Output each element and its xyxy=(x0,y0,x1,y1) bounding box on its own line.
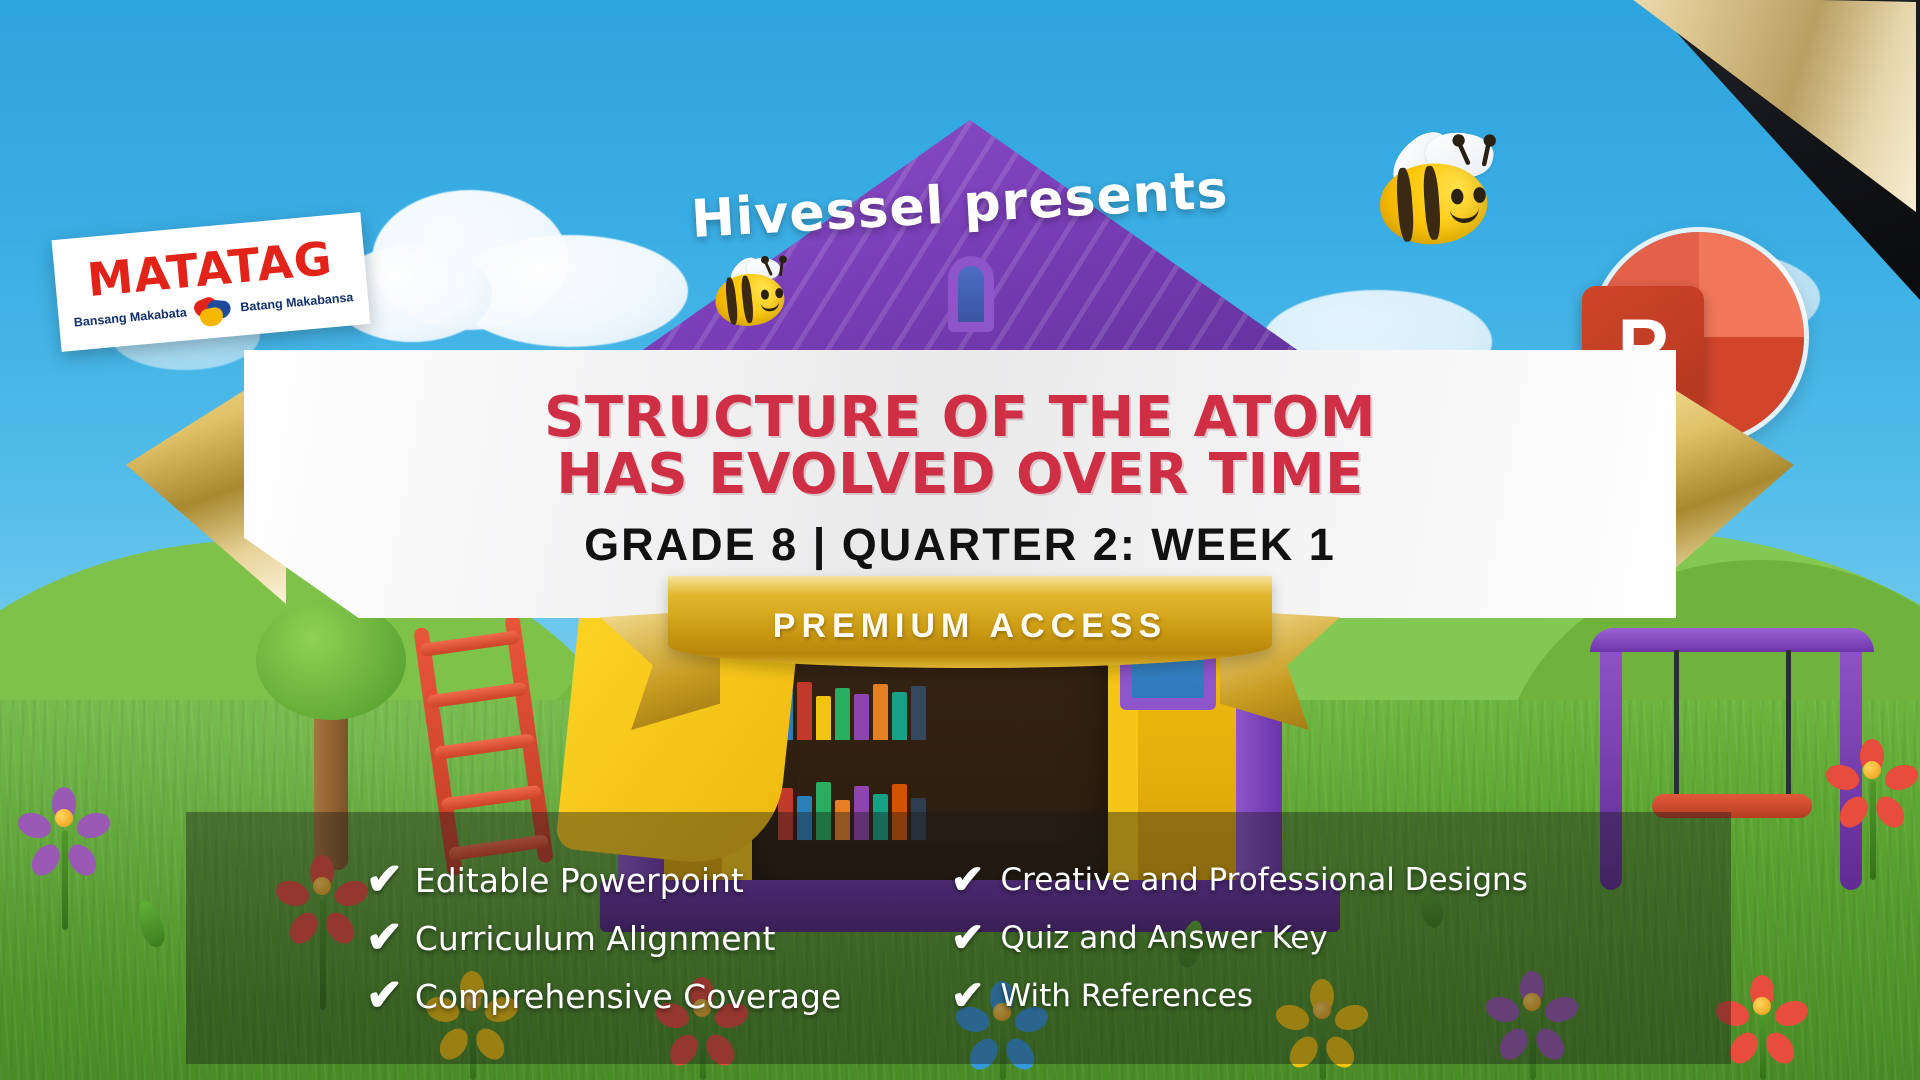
feature-item: ✔ Quiz and Answer Key xyxy=(951,909,1731,967)
ribbon-band: PREMIUM ACCESS xyxy=(668,576,1272,668)
feature-item: ✔ With References xyxy=(951,967,1731,1025)
feature-item: ✔ Editable Powerpoint xyxy=(366,851,911,909)
lesson-title-line-1: STRUCTURE OF THE ATOM xyxy=(544,389,1376,446)
features-column-right: ✔ Creative and Professional Designs ✔ Qu… xyxy=(951,851,1731,1025)
feature-label: Comprehensive Coverage xyxy=(415,977,841,1016)
bee-illustration-left xyxy=(711,256,798,343)
feature-item: ✔ Curriculum Alignment xyxy=(366,909,911,967)
feature-label: Editable Powerpoint xyxy=(415,861,744,900)
feature-label: Quiz and Answer Key xyxy=(1001,920,1328,956)
check-icon: ✔ xyxy=(951,860,985,900)
grade-quarter-week: GRADE 8 | QUARTER 2: WEEK 1 xyxy=(584,519,1336,571)
matatag-tagline-left: Bansang Makabata xyxy=(73,305,187,329)
check-icon: ✔ xyxy=(366,974,403,1018)
feature-item: ✔ Creative and Professional Designs xyxy=(951,851,1731,909)
check-icon: ✔ xyxy=(366,916,403,960)
bee-illustration-right xyxy=(1376,134,1578,326)
page-curl-corner xyxy=(1570,0,1920,300)
feature-label: With References xyxy=(1001,978,1254,1014)
feature-item: ✔ Comprehensive Coverage xyxy=(366,967,911,1025)
feature-label: Curriculum Alignment xyxy=(415,919,776,958)
curl-paper-fold xyxy=(1616,0,1916,296)
feature-label: Creative and Professional Designs xyxy=(1001,862,1528,898)
lesson-title-line-2: HAS EVOLVED OVER TIME xyxy=(556,446,1364,503)
matatag-tagline-right: Batang Makabansa xyxy=(240,290,354,314)
slide-cover: Hivessel presents MATATAG Bansang Makaba… xyxy=(0,0,1920,1080)
premium-access-ribbon: PREMIUM ACCESS xyxy=(600,576,1340,706)
premium-access-label: PREMIUM ACCESS xyxy=(773,607,1167,646)
clasped-hands-icon xyxy=(192,295,234,325)
features-column-left: ✔ Editable Powerpoint ✔ Curriculum Align… xyxy=(366,851,911,1025)
check-icon: ✔ xyxy=(366,858,403,902)
features-panel: ✔ Editable Powerpoint ✔ Curriculum Align… xyxy=(186,812,1731,1064)
check-icon: ✔ xyxy=(951,976,985,1016)
check-icon: ✔ xyxy=(951,918,985,958)
